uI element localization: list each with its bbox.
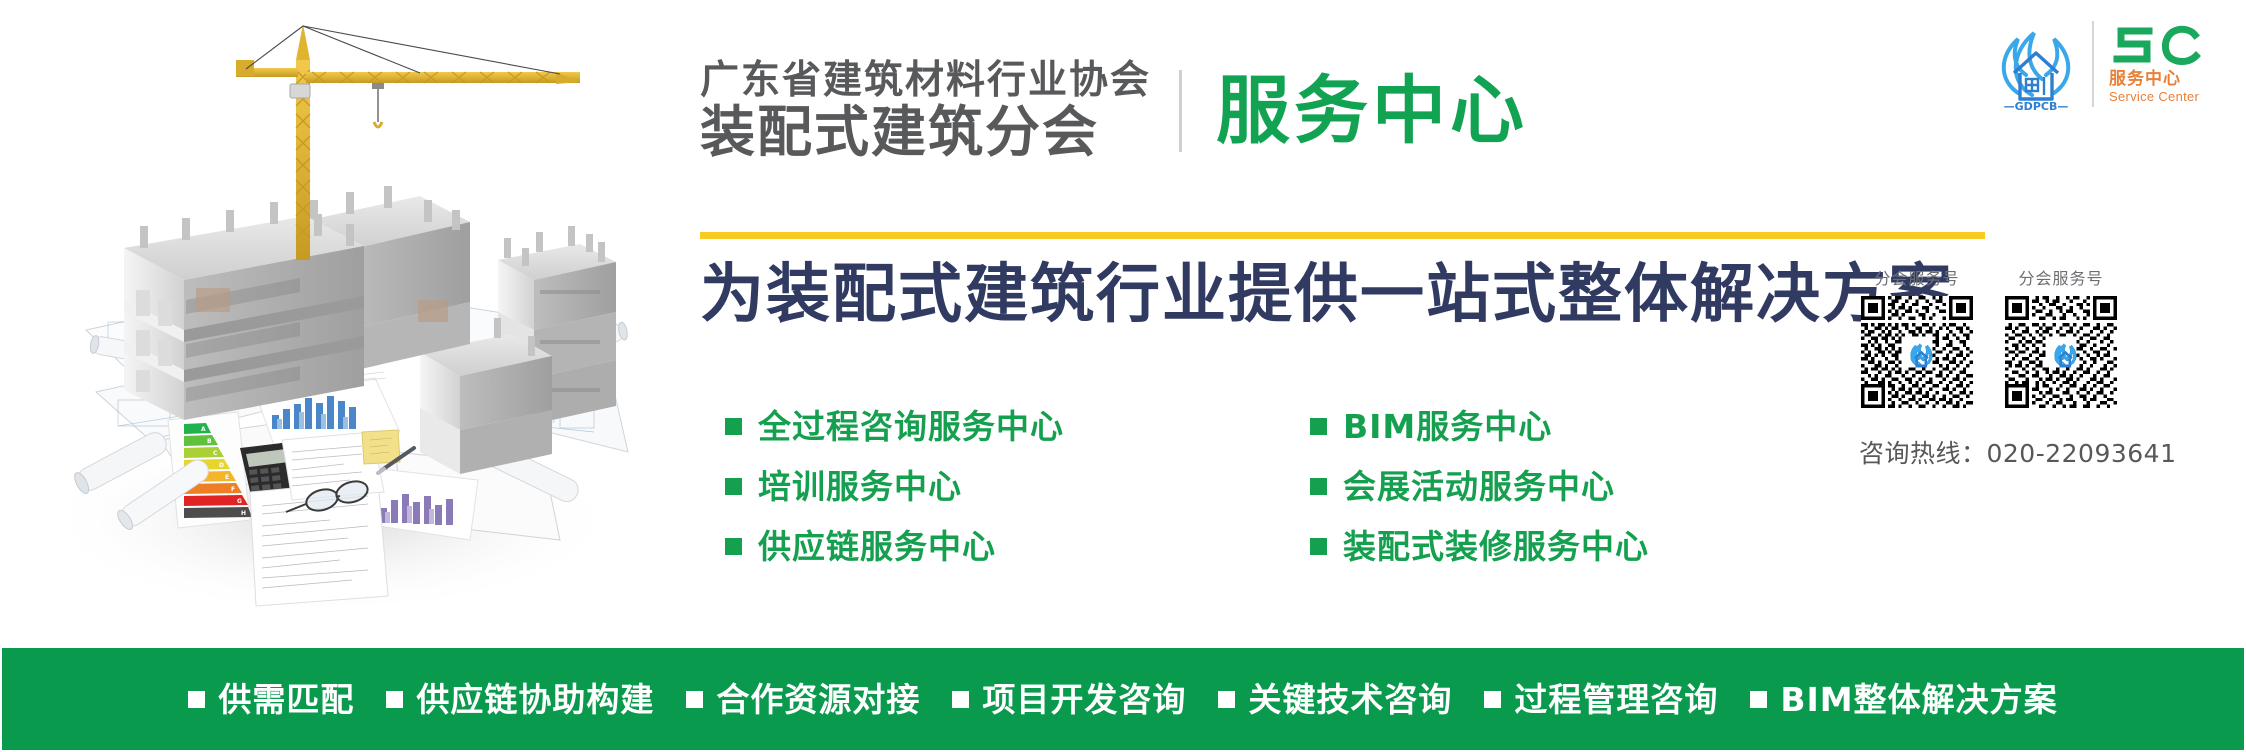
qr-cell-subsidiary-service-2: 分会服务号 [2001, 265, 2121, 408]
service-item-bim[interactable]: BIM服务中心 [1310, 410, 1825, 443]
svg-text:F: F [231, 486, 235, 493]
square-bullet-icon [1310, 418, 1327, 435]
gold-divider-rule [700, 232, 1985, 239]
service-item-prefab-decoration[interactable]: 装配式装修服务中心 [1310, 530, 1825, 563]
tagline: 为装配式建筑行业提供一站式整体解决方案 [700, 258, 2000, 334]
service-item-supply-chain[interactable]: 供应链服务中心 [725, 530, 1310, 563]
service-column-left: 全过程咨询服务中心 培训服务中心 供应链服务中心 [725, 410, 1310, 563]
association-name: 广东省建筑材料行业协会 装配式建筑分会 [700, 59, 1151, 162]
svg-text:B: B [207, 438, 212, 445]
construction-hero-image: ABC DEF GH [0, 0, 640, 648]
square-bullet-icon [686, 691, 703, 708]
square-bullet-icon [725, 418, 742, 435]
qr-caption: 分会服务号 [1874, 265, 1959, 289]
sc-english-label: Service Center [2109, 89, 2199, 105]
qr-code-row: 分会服务号 [1857, 265, 2197, 408]
qr-code-image-1[interactable] [1861, 296, 1973, 408]
header-vertical-divider [1179, 70, 1182, 152]
gdpcb-logo-icon: —GDPCB— [1988, 15, 2084, 113]
qr-cell-subsidiary-service-1: 分会服务号 [1857, 265, 1977, 408]
svg-text:E: E [225, 474, 229, 481]
square-bullet-icon [1310, 478, 1327, 495]
service-item-label: 培训服务中心 [758, 470, 962, 503]
bottom-bar-item-label: 供需匹配 [218, 683, 354, 716]
square-bullet-icon [725, 478, 742, 495]
bottom-bar-item-process-management-consulting[interactable]: 过程管理咨询 [1484, 683, 1718, 716]
bottom-bar-item-label: 供应链协助构建 [416, 683, 654, 716]
bottom-bar-item-partner-resource-matching[interactable]: 合作资源对接 [686, 683, 920, 716]
bottom-bar-item-list: 供需匹配 供应链协助构建 合作资源对接 项目开发咨询 关键技术咨询 过程管理咨询 [188, 683, 2057, 716]
service-center-heading: 服务中心 [1216, 74, 1528, 148]
qr-contact-panel: 分会服务号 [1857, 265, 2197, 470]
service-item-label: 全过程咨询服务中心 [758, 410, 1064, 443]
square-bullet-icon [1310, 538, 1327, 555]
bottom-bar-item-supply-chain-support[interactable]: 供应链协助构建 [386, 683, 654, 716]
qr-caption: 分会服务号 [2018, 265, 2103, 289]
header-title-block: 广东省建筑材料行业协会 装配式建筑分会 服务中心 [700, 46, 1990, 176]
service-item-label: 装配式装修服务中心 [1343, 530, 1649, 563]
bottom-bar-item-project-development-consulting[interactable]: 项目开发咨询 [952, 683, 1186, 716]
service-item-training[interactable]: 培训服务中心 [725, 470, 1310, 503]
bottom-bar-item-label: 关键技术咨询 [1248, 683, 1452, 716]
brand-logo-lockup: —GDPCB— 服务中心 Service Center [1988, 14, 2238, 114]
svg-text:D: D [219, 462, 224, 469]
bottom-bar-item-supply-demand-matching[interactable]: 供需匹配 [188, 683, 354, 716]
logo-vertical-divider [2092, 21, 2094, 107]
service-item-full-process-consulting[interactable]: 全过程咨询服务中心 [725, 410, 1310, 443]
square-bullet-icon [188, 691, 205, 708]
service-center-list: 全过程咨询服务中心 培训服务中心 供应链服务中心 BIM服务中心 会展活动服务中… [725, 410, 1825, 563]
svg-text:G: G [237, 498, 242, 505]
bottom-bar-item-label: 合作资源对接 [716, 683, 920, 716]
bottom-bar-item-bim-total-solution[interactable]: BIM整体解决方案 [1750, 683, 2057, 716]
sc-brand-block: 服务中心 Service Center [2109, 23, 2201, 105]
square-bullet-icon [386, 691, 403, 708]
bottom-bar-item-label: BIM整体解决方案 [1780, 683, 2057, 716]
service-column-right: BIM服务中心 会展活动服务中心 装配式装修服务中心 [1310, 410, 1825, 563]
bottom-bar-item-key-technology-consulting[interactable]: 关键技术咨询 [1218, 683, 1452, 716]
square-bullet-icon [1750, 691, 1767, 708]
svg-text:H: H [241, 510, 246, 517]
service-item-label: BIM服务中心 [1343, 410, 1552, 443]
bottom-services-bar: 供需匹配 供应链协助构建 合作资源对接 项目开发咨询 关键技术咨询 过程管理咨询 [2, 648, 2244, 750]
sc-monogram-icon [2109, 23, 2201, 67]
bottom-bar-item-label: 项目开发咨询 [982, 683, 1186, 716]
service-item-exhibition[interactable]: 会展活动服务中心 [1310, 470, 1825, 503]
service-center-banner: ABC DEF GH [0, 0, 2246, 752]
square-bullet-icon [1484, 691, 1501, 708]
square-bullet-icon [725, 538, 742, 555]
qr-code-image-2[interactable] [2005, 296, 2117, 408]
service-item-label: 会展活动服务中心 [1343, 470, 1615, 503]
bottom-bar-item-label: 过程管理咨询 [1514, 683, 1718, 716]
svg-text:A: A [201, 426, 206, 433]
association-name-line1: 广东省建筑材料行业协会 [700, 59, 1151, 103]
sc-chinese-label: 服务中心 [2109, 69, 2181, 89]
sticky-note [362, 430, 400, 464]
square-bullet-icon [1218, 691, 1235, 708]
svg-text:C: C [213, 450, 218, 457]
hotline-text: 咨询热线：020-22093641 [1857, 434, 2197, 470]
association-name-line2: 装配式建筑分会 [700, 103, 1151, 162]
gdpcb-wordmark: —GDPCB— [2004, 100, 2069, 113]
service-item-label: 供应链服务中心 [758, 530, 996, 563]
square-bullet-icon [952, 691, 969, 708]
construction-scene-illustration: ABC DEF GH [0, 0, 640, 648]
